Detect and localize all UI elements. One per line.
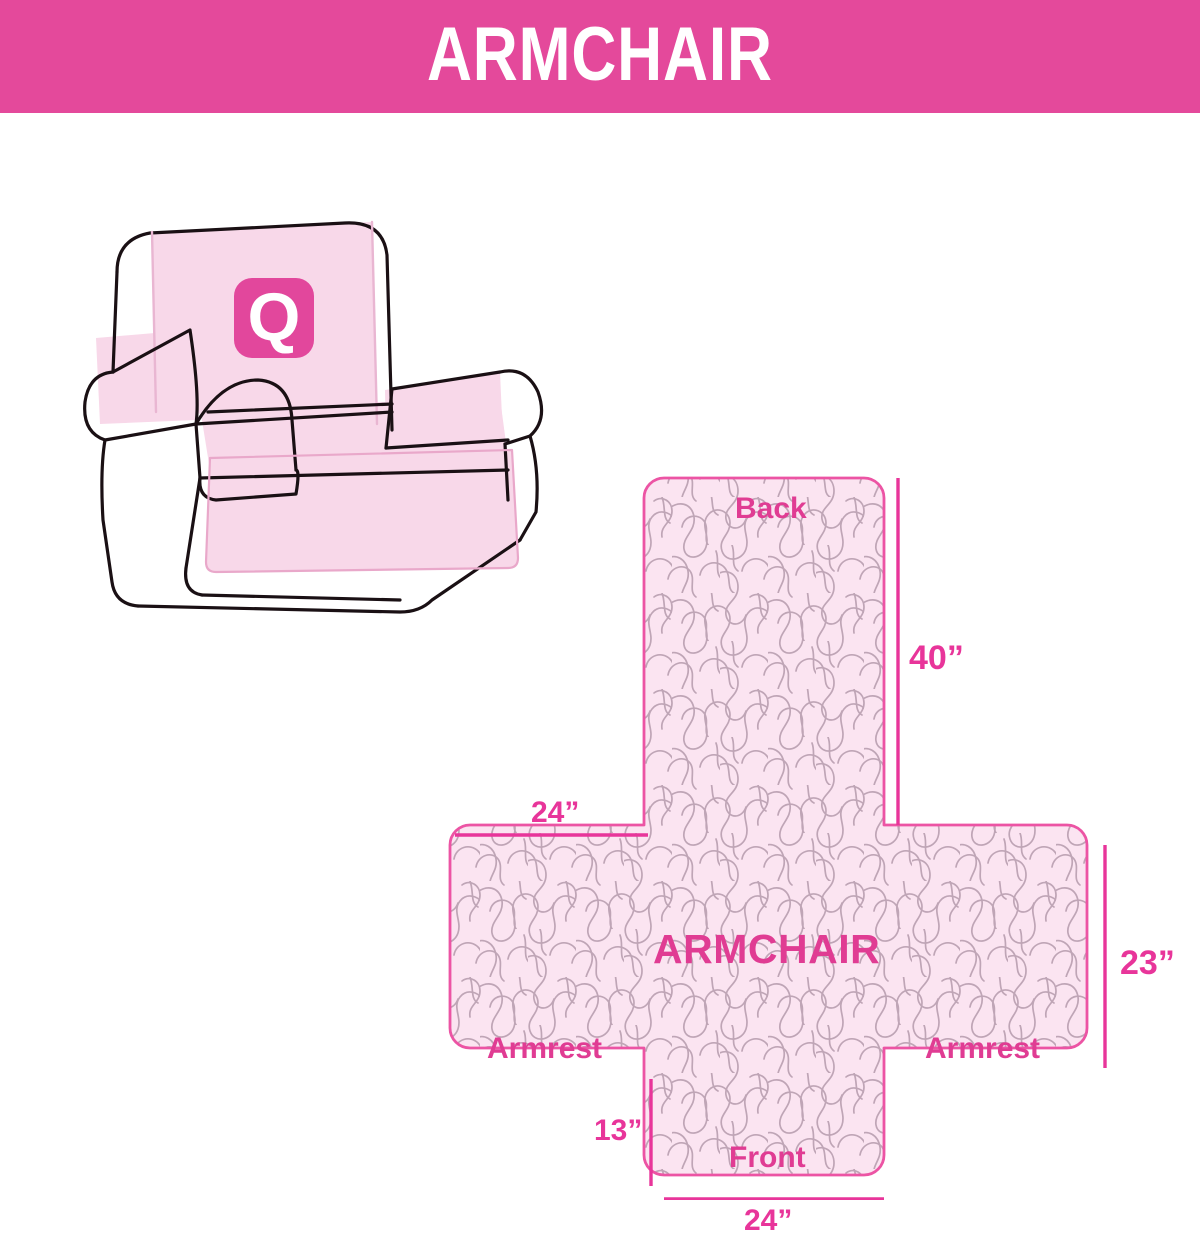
page-title: ARMCHAIR: [427, 17, 773, 93]
cover-shape-fill: [440, 463, 1120, 1200]
dimension-value-back-height: 40”: [909, 641, 964, 675]
dimension-value-armrest-width: 24”: [531, 798, 579, 828]
diagram-center-label: ARMCHAIR: [653, 929, 880, 970]
dimension-value-front-width: 24”: [744, 1206, 792, 1236]
panel-label-back: Back: [735, 494, 807, 524]
header-banner: ARMCHAIR: [0, 0, 1200, 113]
panel-label-armrest-left: Armrest: [487, 1034, 602, 1064]
content-area: Q: [0, 113, 1200, 1200]
panel-label-armrest-right: Armrest: [925, 1034, 1040, 1064]
dimension-value-front-height: 13”: [594, 1116, 642, 1146]
dimension-value-armrest-height: 23”: [1120, 946, 1175, 980]
panel-label-front: Front: [729, 1143, 806, 1173]
